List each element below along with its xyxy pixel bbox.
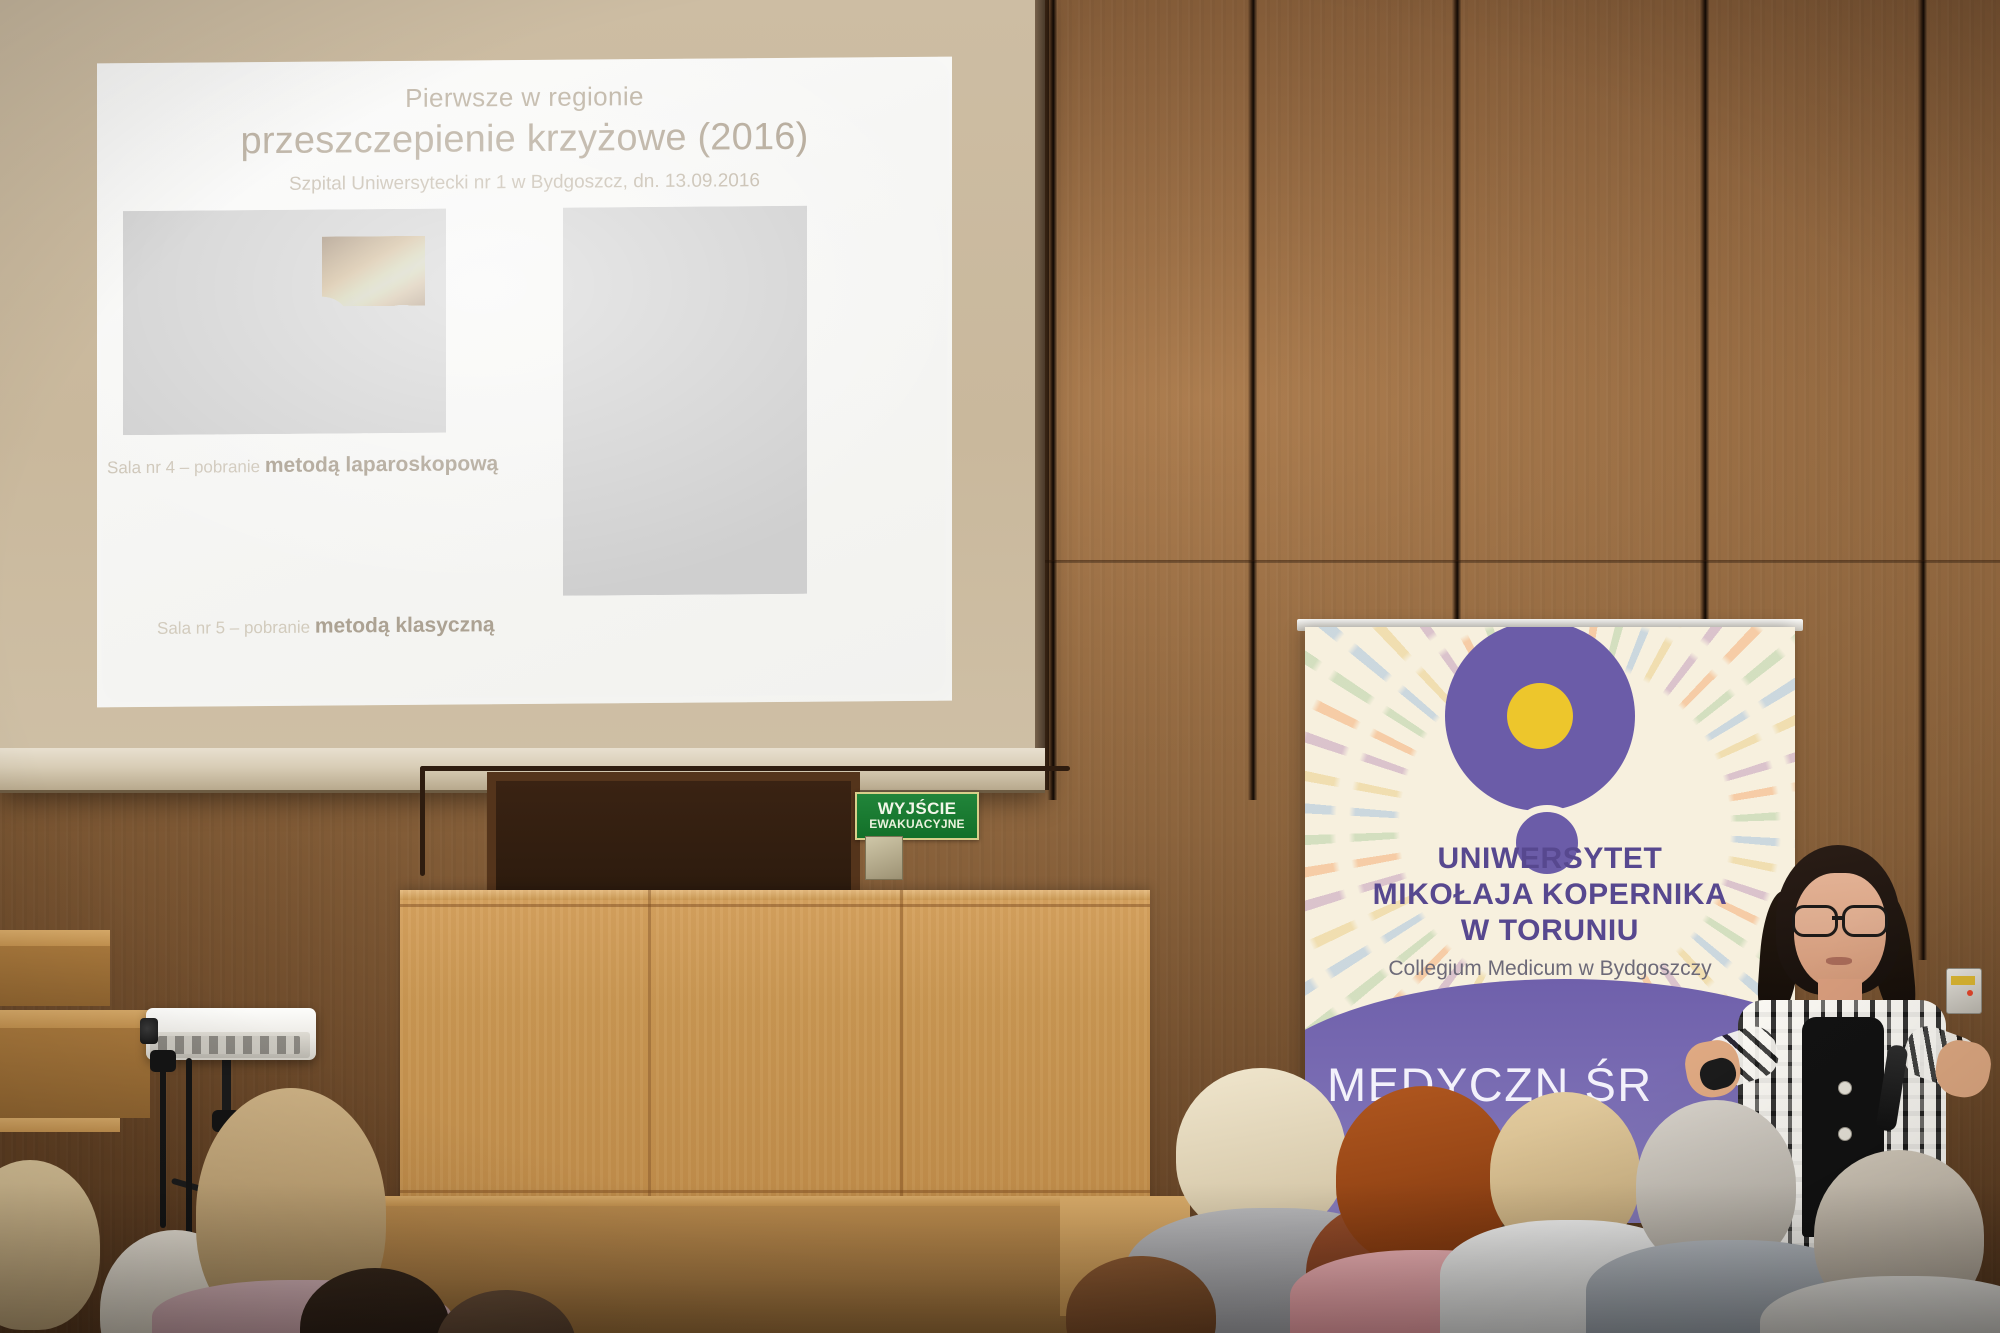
bench-top	[0, 1010, 150, 1028]
wall-seam	[1248, 0, 1257, 800]
screen-edge	[1035, 0, 1049, 790]
eyeglasses-right-lens	[1842, 905, 1888, 937]
projector-cable	[186, 1058, 192, 1238]
slide-title-small: Pierwsze w regionie	[97, 79, 952, 117]
eyeglasses-bridge	[1832, 916, 1844, 920]
wall-cable	[420, 766, 1070, 771]
university-logo-center-dot	[1507, 683, 1573, 749]
bench-top	[0, 930, 110, 946]
jacket-button	[1838, 1127, 1852, 1141]
stage-front-panel	[400, 890, 1150, 1210]
wall-seam	[1918, 0, 1927, 960]
wall-seam	[1452, 0, 1461, 640]
caption-left-bold: metodą laparoskopową	[265, 452, 498, 477]
projector-plug	[150, 1050, 176, 1072]
bench-front	[0, 946, 110, 1006]
podium-seam	[400, 1190, 1150, 1193]
podium-seam	[900, 890, 903, 1210]
presentation-slide: Pierwsze w regionie przeszczepienie krzy…	[97, 57, 952, 708]
slide-caption-right: Sala nr 5 – pobranie metodą klasyczną	[157, 613, 495, 640]
wall-control-box-label	[1951, 976, 1975, 985]
exit-sign-line1: WYJŚCIE	[878, 800, 957, 817]
bench-front	[0, 1028, 150, 1118]
wall-control-box-led	[1967, 990, 1973, 996]
projector-ports	[158, 1036, 300, 1054]
slide-photo-laparoscopic	[123, 209, 446, 436]
projector-lens	[140, 1018, 158, 1044]
wall-seam	[1048, 0, 1057, 800]
presenter-mouth	[1826, 957, 1852, 965]
caption-left-prefix: Sala nr 4 – pobranie	[107, 457, 265, 477]
podium-seam	[648, 890, 651, 1210]
caption-right-prefix: Sala nr 5 – pobranie	[157, 618, 315, 638]
eyeglasses-left-lens	[1792, 905, 1838, 937]
lecture-hall-photo: Pierwsze w regionie przeszczepienie krzy…	[0, 0, 2000, 1333]
podium-seam	[400, 904, 1150, 907]
wall-plaque	[865, 836, 903, 880]
stage-lip	[300, 1196, 1180, 1206]
slide-subtitle: Szpital Uniwersytecki nr 1 w Bydgoszcz, …	[97, 169, 952, 198]
slide-photo-classic	[563, 206, 807, 596]
podium-grain	[400, 890, 1150, 1210]
wall-cable-drop	[420, 766, 425, 876]
wall-control-box[interactable]	[1946, 968, 1982, 1014]
projection-screen: Pierwsze w regionie przeszczepienie krzy…	[0, 0, 1045, 790]
exit-sign-line2: EWAKUACYJNE	[869, 817, 965, 832]
caption-right-bold: metodą klasyczną	[315, 613, 495, 637]
jacket-button	[1838, 1081, 1852, 1095]
slide-title-large: przeszczepienie krzyżowe (2016)	[97, 115, 952, 165]
emergency-exit-sign: WYJŚCIE EWAKUACYJNE	[855, 792, 979, 840]
projector-cable	[160, 1058, 166, 1228]
slide-caption-left: Sala nr 4 – pobranie metodą laparoskopow…	[107, 452, 498, 479]
bench-ledge	[0, 1118, 120, 1132]
